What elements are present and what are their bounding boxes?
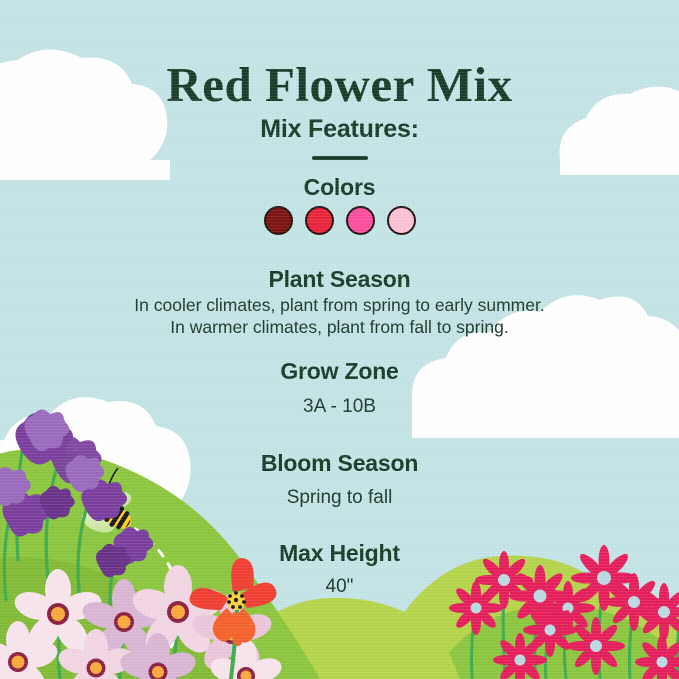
plant-season-label: Plant Season [0, 266, 679, 293]
color-swatch-crimson-red [305, 206, 334, 235]
seed-packet-infographic: Red Flower Mix Mix Features: Colors Plan… [0, 0, 679, 679]
title-divider [312, 156, 368, 160]
grow-zone-label: Grow Zone [0, 358, 679, 385]
plant-season-line-2: In warmer climates, plant from fall to s… [0, 316, 679, 338]
bloom-season-value: Spring to fall [0, 487, 679, 509]
max-height-value: 40" [0, 576, 679, 598]
page-title: Red Flower Mix [0, 56, 679, 113]
color-swatch-row [0, 206, 679, 235]
color-swatch-light-pink [387, 206, 416, 235]
color-swatch-dark-maroon [264, 206, 293, 235]
plant-season-line-1: In cooler climates, plant from spring to… [0, 294, 679, 316]
bloom-season-label: Bloom Season [0, 450, 679, 477]
max-height-label: Max Height [0, 540, 679, 567]
grow-zone-value: 3A - 10B [0, 396, 679, 418]
color-swatch-hot-pink [346, 206, 375, 235]
mix-features-subtitle: Mix Features: [0, 115, 679, 144]
colors-label: Colors [0, 174, 679, 201]
